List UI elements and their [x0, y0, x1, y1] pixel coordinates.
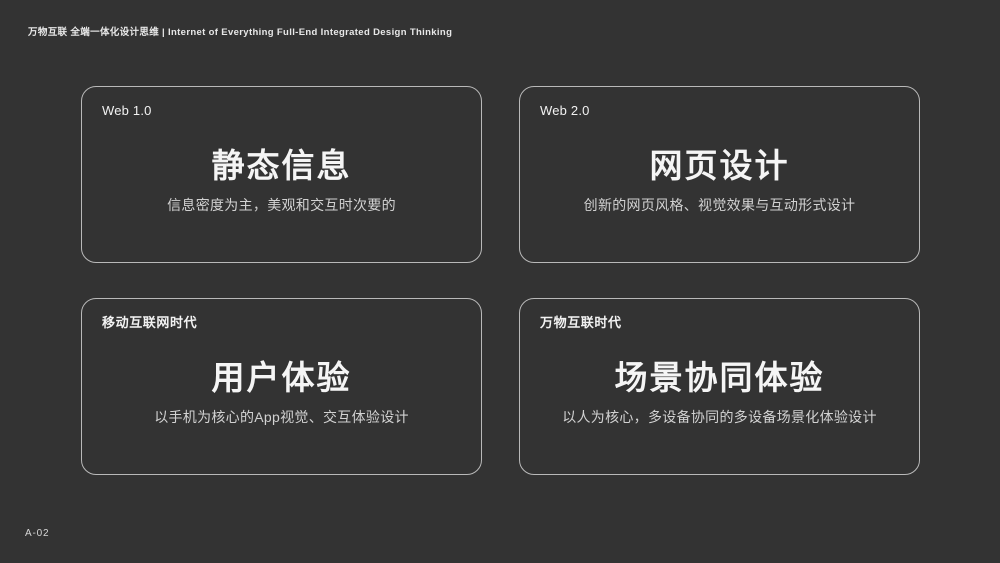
era-card-eyebrow: Web 1.0 — [102, 103, 152, 119]
era-card-body: 场景协同体验 以人为核心，多设备协同的多设备场景化体验设计 — [520, 359, 919, 428]
era-card-subtitle: 创新的网页风格、视觉效果与互动形式设计 — [520, 196, 919, 216]
era-card-internet-of-everything[interactable]: 万物互联时代 场景协同体验 以人为核心，多设备协同的多设备场景化体验设计 — [519, 298, 920, 475]
card-grid: Web 1.0 静态信息 信息密度为主，美观和交互时次要的 Web 2.0 网页… — [81, 86, 920, 475]
era-card-mobile-internet[interactable]: 移动互联网时代 用户体验 以手机为核心的App视觉、交互体验设计 — [81, 298, 482, 475]
era-card-eyebrow: Web 2.0 — [540, 103, 590, 119]
slide-header-title: 万物互联 全端一体化设计思维 | Internet of Everything … — [28, 24, 452, 38]
era-card-body: 静态信息 信息密度为主，美观和交互时次要的 — [82, 147, 481, 216]
era-card-subtitle: 以手机为核心的App视觉、交互体验设计 — [82, 408, 481, 428]
era-card-subtitle: 以人为核心，多设备协同的多设备场景化体验设计 — [520, 408, 919, 428]
slide-canvas: 万物互联 全端一体化设计思维 | Internet of Everything … — [0, 0, 1000, 563]
era-card-title: 用户体验 — [82, 359, 481, 398]
era-card-body: 用户体验 以手机为核心的App视觉、交互体验设计 — [82, 359, 481, 428]
era-card-subtitle: 信息密度为主，美观和交互时次要的 — [82, 196, 481, 216]
era-card-title: 场景协同体验 — [520, 359, 919, 398]
era-card-web-1[interactable]: Web 1.0 静态信息 信息密度为主，美观和交互时次要的 — [81, 86, 482, 263]
page-number: A-02 — [25, 528, 49, 539]
era-card-eyebrow: 万物互联时代 — [540, 315, 622, 331]
era-card-title: 静态信息 — [82, 147, 481, 186]
era-card-eyebrow: 移动互联网时代 — [102, 315, 197, 331]
era-card-body: 网页设计 创新的网页风格、视觉效果与互动形式设计 — [520, 147, 919, 216]
era-card-web-2[interactable]: Web 2.0 网页设计 创新的网页风格、视觉效果与互动形式设计 — [519, 86, 920, 263]
era-card-title: 网页设计 — [520, 147, 919, 186]
